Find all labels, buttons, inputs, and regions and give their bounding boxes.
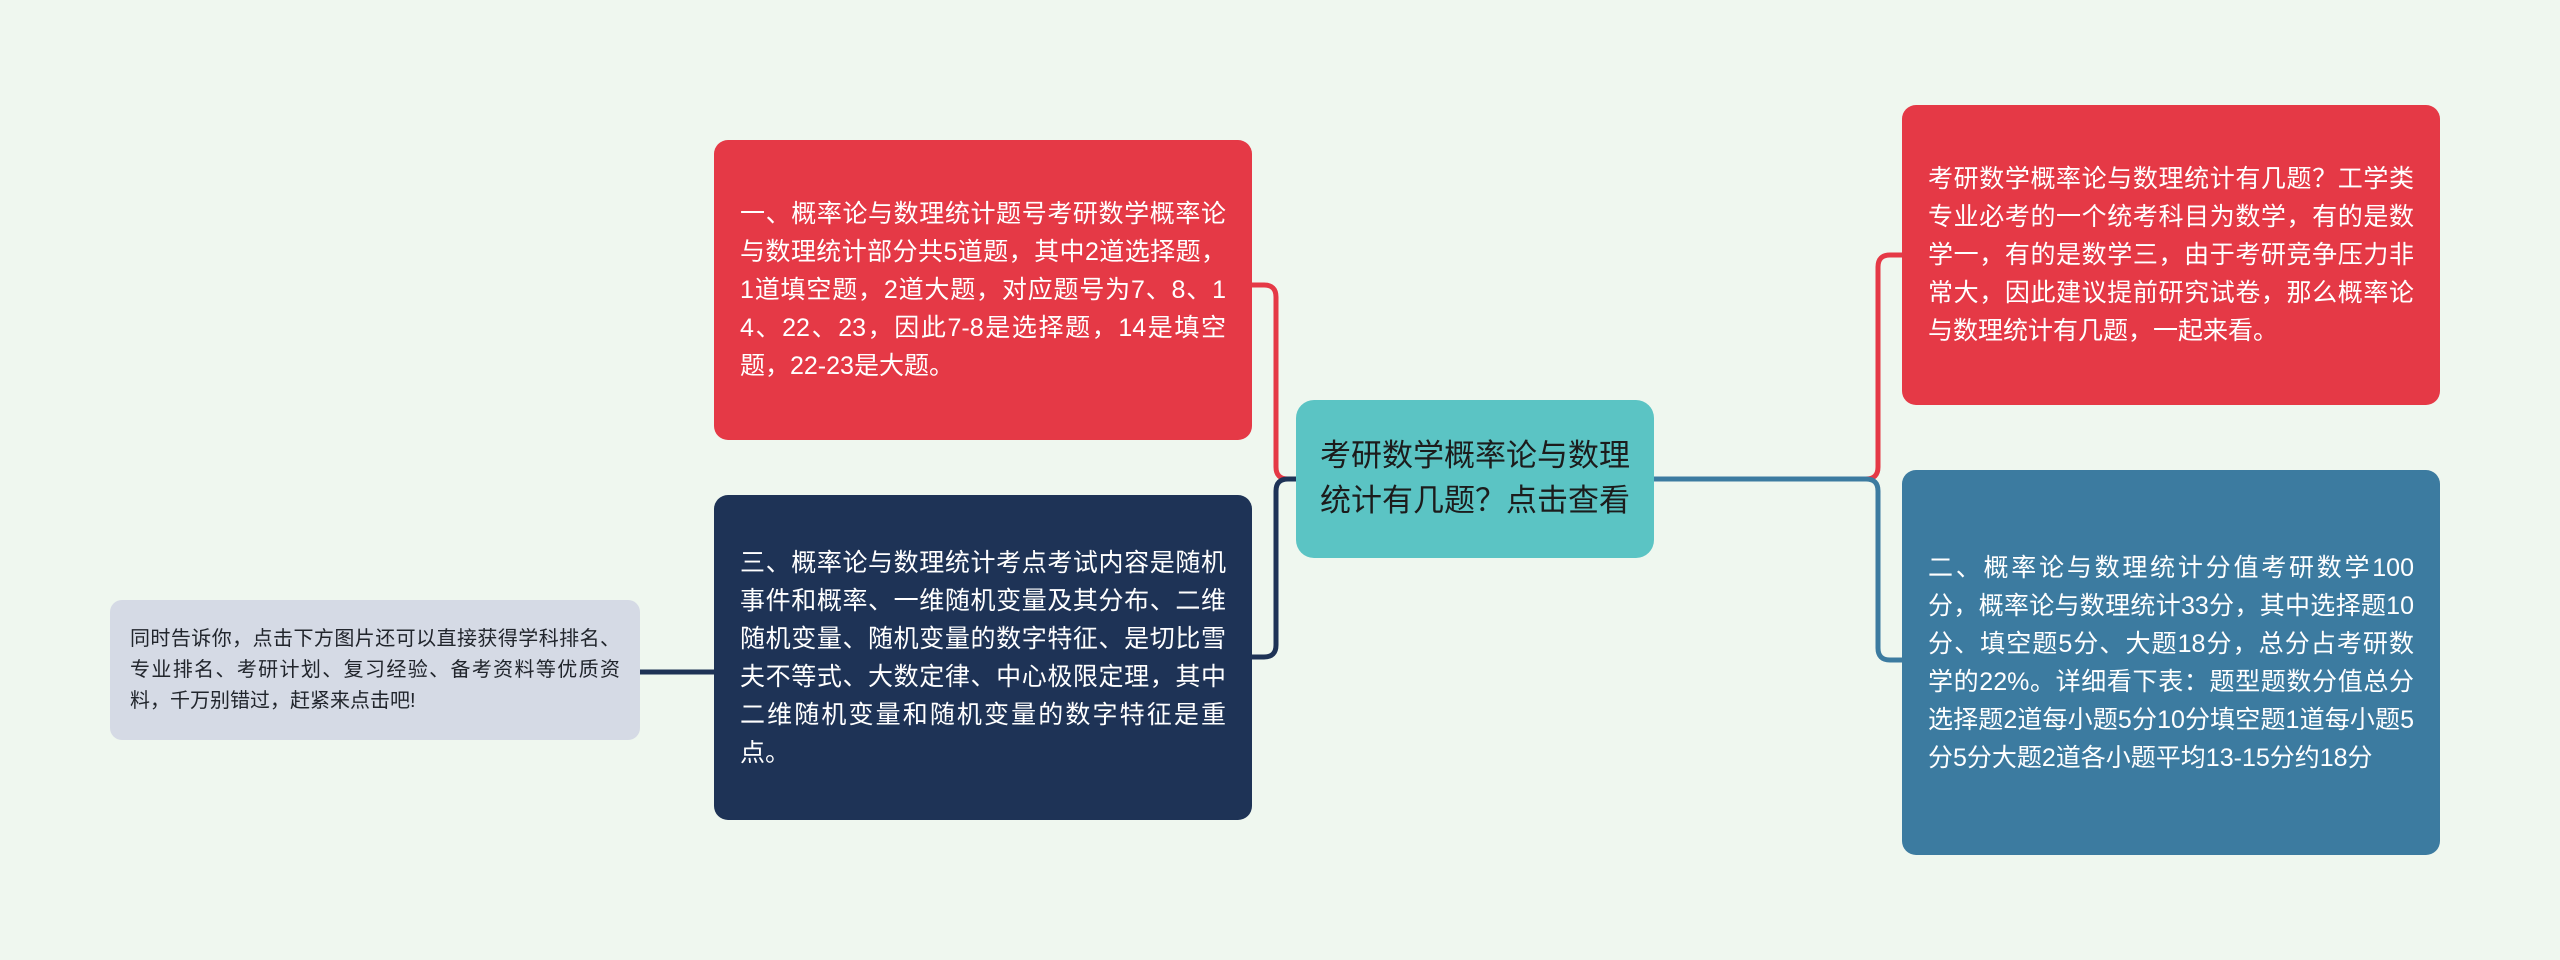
node-root[interactable]: 考研数学概率论与数理统计有几题？点击查看 [1296, 400, 1654, 558]
node-grey-note[interactable]: 同时告诉你，点击下方图片还可以直接获得学科排名、专业排名、考研计划、复习经验、备… [110, 600, 640, 740]
node-left-navy[interactable]: 三、概率论与数理统计考点考试内容是随机事件和概率、一维随机变量及其分布、二维随机… [714, 495, 1252, 820]
node-left-red[interactable]: 一、概率论与数理统计题号考研数学概率论与数理统计部分共5道题，其中2道选择题，1… [714, 140, 1252, 440]
node-root-label: 考研数学概率论与数理统计有几题？点击查看 [1296, 434, 1654, 524]
connector-root-to-left-red [1252, 285, 1296, 479]
node-right-red-label: 考研数学概率论与数理统计有几题？工学类专业必考的一个统考科目为数学，有的是数学一… [1928, 160, 2414, 350]
node-right-blue-label: 二、概率论与数理统计分值考研数学100分，概率论与数理统计33分，其中选择题10… [1928, 549, 2414, 777]
node-right-blue[interactable]: 二、概率论与数理统计分值考研数学100分，概率论与数理统计33分，其中选择题10… [1902, 470, 2440, 855]
node-left-red-label: 一、概率论与数理统计题号考研数学概率论与数理统计部分共5道题，其中2道选择题，1… [740, 195, 1226, 385]
node-left-navy-label: 三、概率论与数理统计考点考试内容是随机事件和概率、一维随机变量及其分布、二维随机… [740, 544, 1226, 772]
node-grey-note-label: 同时告诉你，点击下方图片还可以直接获得学科排名、专业排名、考研计划、复习经验、备… [130, 624, 620, 717]
connector-root-to-left-navy [1252, 479, 1296, 657]
connector-root-to-right-red [1654, 255, 1902, 479]
connector-root-to-right-blue [1654, 479, 1902, 660]
mindmap-canvas: 同时告诉你，点击下方图片还可以直接获得学科排名、专业排名、考研计划、复习经验、备… [0, 0, 2560, 960]
node-right-red[interactable]: 考研数学概率论与数理统计有几题？工学类专业必考的一个统考科目为数学，有的是数学一… [1902, 105, 2440, 405]
